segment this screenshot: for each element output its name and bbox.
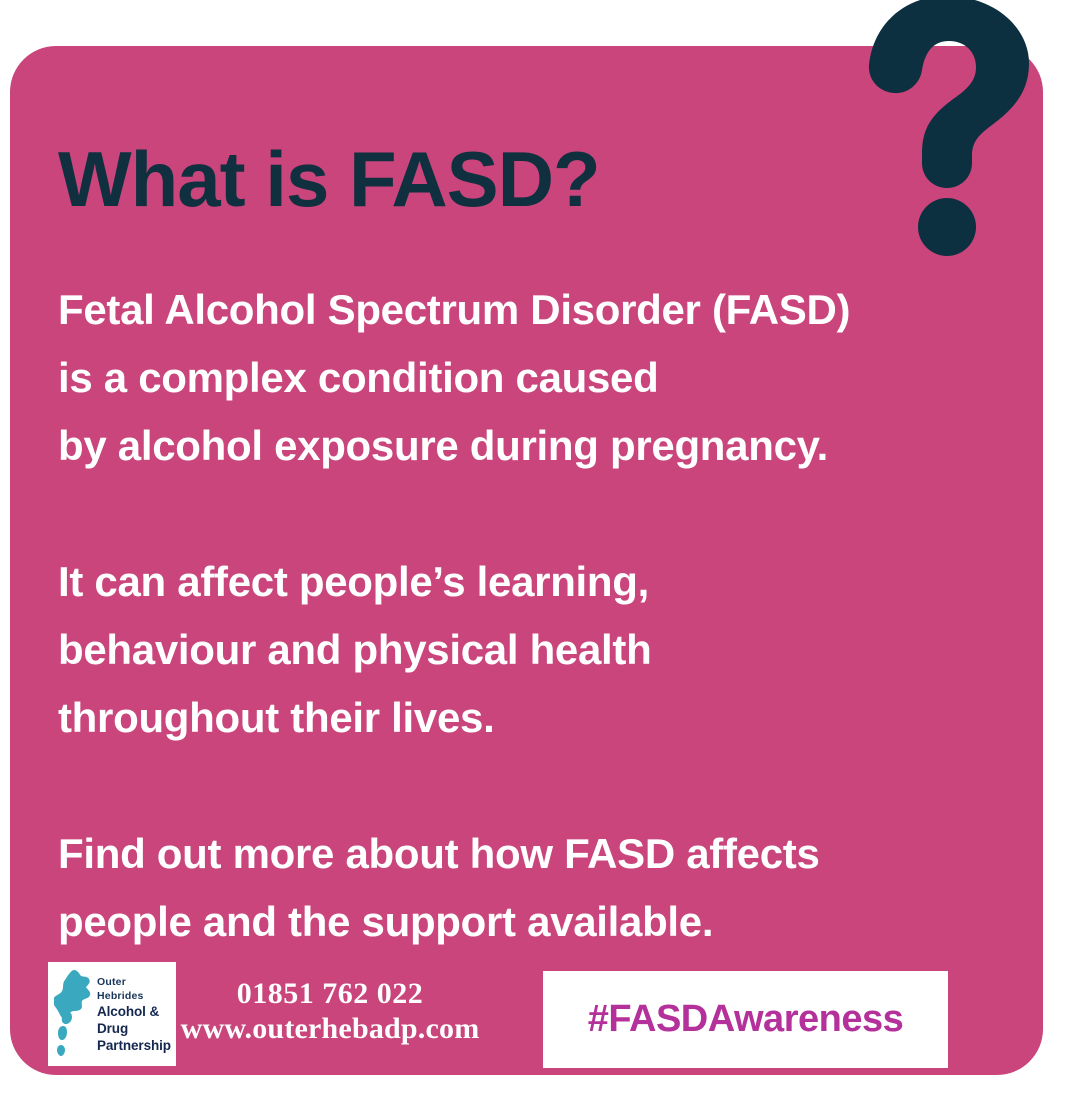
logo-line-3: Partnership [97, 1037, 172, 1054]
paragraph-line: people and the support available. [58, 888, 1033, 956]
paragraph-line: throughout their lives. [58, 684, 1033, 752]
paragraph-line: is a complex condition caused [58, 344, 1033, 412]
paragraph-line: Find out more about how FASD affects [58, 820, 1033, 888]
organisation-logo: Outer Hebrides Alcohol & Drug Partnershi… [48, 962, 176, 1066]
paragraph-3: Find out more about how FASD affects peo… [58, 820, 1033, 956]
paragraph-line: behaviour and physical health [58, 616, 1033, 684]
outer-hebrides-map-icon [54, 968, 94, 1060]
poster-root: What is FASD? Fetal Alcohol Spectrum Dis… [0, 0, 1065, 1110]
contact-details: 01851 762 022 www.outerhebadp.com [180, 977, 480, 1047]
body-copy: Fetal Alcohol Spectrum Disorder (FASD) i… [58, 276, 1033, 956]
logo-line-2: Alcohol & Drug [97, 1003, 172, 1037]
hashtag-label: #FASDAwareness [588, 998, 903, 1041]
paragraph-2: It can affect people’s learning, behavio… [58, 548, 1033, 752]
paragraph-line: Fetal Alcohol Spectrum Disorder (FASD) [58, 276, 1033, 344]
hashtag-banner: #FASDAwareness [543, 971, 948, 1068]
website-url[interactable]: www.outerhebadp.com [180, 1011, 480, 1047]
logo-line-1: Outer Hebrides [97, 975, 172, 1003]
phone-number[interactable]: 01851 762 022 [180, 977, 480, 1011]
paragraph-1: Fetal Alcohol Spectrum Disorder (FASD) i… [58, 276, 1033, 480]
page-title: What is FASD? [58, 140, 600, 218]
paragraph-line: It can affect people’s learning, [58, 548, 1033, 616]
paragraph-line: by alcohol exposure during pregnancy. [58, 412, 1033, 480]
